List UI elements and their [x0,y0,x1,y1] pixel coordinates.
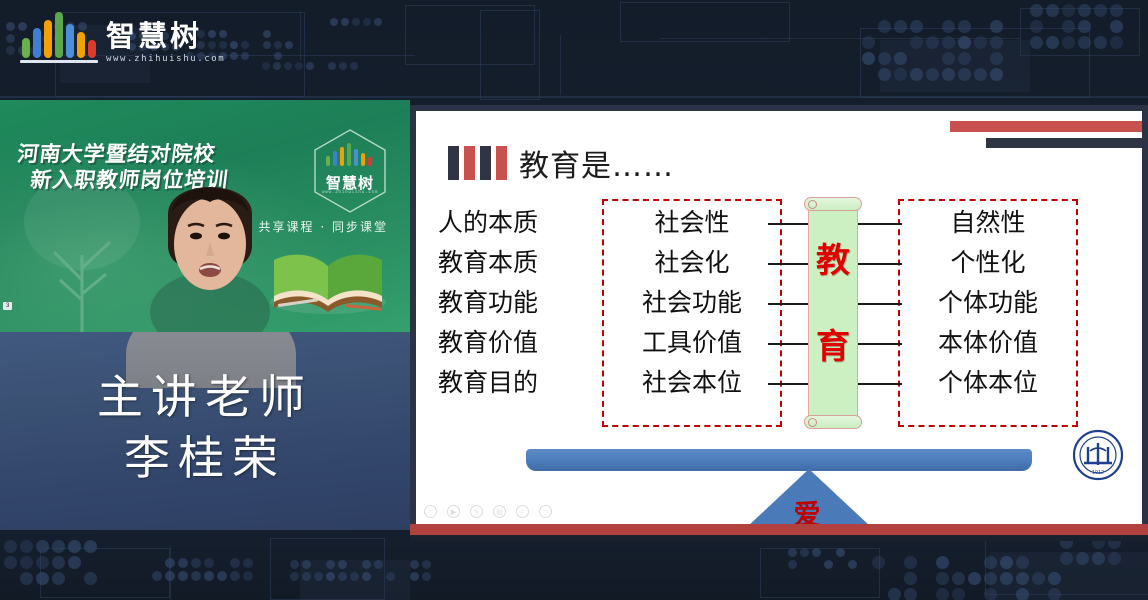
dot-bl-1-0 [4,556,17,569]
dot-bm-1-1 [302,572,311,581]
logo-bar-1 [22,38,30,58]
dot-bl2-0-6 [230,558,240,568]
teacher-credit: 主讲老师 李桂荣 [0,368,410,488]
brand-url: www.zhihuishu.com [312,190,388,195]
dot-bl2-0-2 [178,558,188,568]
brand-bars-icon [326,146,374,170]
dot-bm-0-4 [338,560,347,569]
connector-5-1 [768,383,812,385]
logo-bar-3 [44,20,52,58]
dot-bl-0-4 [68,540,81,553]
dot-br-2-5 [952,588,965,600]
dot-bm-0-11 [422,560,431,569]
dot-br2-1-0 [1060,552,1073,565]
slide-bottom-shadow [410,535,1148,541]
dot-bl2-1-5 [217,571,227,581]
topic-cell-2: 教育本质 [438,243,588,283]
dot-bm-0-6 [362,560,371,569]
dot-br2-1-2 [1092,552,1105,565]
dot-br-0-2 [904,556,917,569]
logo-url: www.zhihuishu.com [106,54,225,64]
individual-cell-1: 自然性 [902,203,1074,243]
dot-br-1-8 [1000,572,1013,585]
topic-cell-4: 教育价值 [438,323,588,363]
dot-bm-1-5 [350,572,359,581]
dot-br-0-0 [872,556,885,569]
logo-bar-foot-7 [86,60,98,63]
zhihuishu-logo[interactable]: 智慧树 www.zhihuishu.com [22,16,225,66]
dot-br-1-10 [1032,572,1045,585]
dot-bl-2-5 [84,572,97,585]
dot-bm-1-10 [410,572,419,581]
connector-2-2 [858,263,902,265]
teacher-role-label: 主讲老师 [0,368,410,427]
dot-br-1-7 [984,572,997,585]
individual-column: 自然性个性化个体功能本体价值个体本位 [902,203,1074,403]
dot-br-2-2 [904,588,917,600]
logo-bar-2 [33,28,41,58]
dot-bl-0-0 [4,540,17,553]
dot-bm-0-10 [410,560,419,569]
connector-4-1 [768,343,812,345]
slide-title: 教育是…… [519,141,674,185]
dot-bl-0-1 [20,540,33,553]
connector-5-2 [858,383,902,385]
dot-bl2-1-7 [243,571,253,581]
teacher-name-label: 李桂荣 [0,429,410,488]
title-bar-3 [480,146,491,180]
note-icon[interactable]: ▤ [493,505,506,518]
dot-bm-0-1 [302,560,311,569]
dot-bm-0-0 [290,560,299,569]
connector-3-2 [858,303,902,305]
dot-bl-0-3 [52,540,65,553]
scroll-knob-top [808,200,817,209]
brand-bar-6 [361,153,365,166]
title-accent-bars-icon [448,146,507,180]
dot-bm-1-8 [386,572,395,581]
topic-cell-5: 教育目的 [438,363,588,403]
dot-br2-1-1 [1076,552,1089,565]
dot-bl-2-1 [20,572,33,585]
social-cell-2: 社会化 [606,243,778,283]
fulcrum-label: 爱 [772,493,842,524]
dot-bm2-0-0 [788,548,797,557]
dot-bm2-1-0 [788,560,797,569]
slide-viewer[interactable]: 教育是…… 人的本质教育本质教育功能教育价值教育目的 社会性社会化社会功能工具价… [410,105,1148,530]
brand-bar-4 [347,143,351,166]
video-brand-hexagon: 智慧树 www.zhihuishu.com [312,128,388,214]
dot-bm-1-4 [338,572,347,581]
henan-university-logo: 1912 [1072,429,1124,481]
dot-bl-1-1 [20,556,33,569]
dot-bm2-1-3 [824,560,833,569]
social-column: 社会性社会化社会功能工具价值社会本位 [606,203,778,403]
balance-beam [526,449,1032,471]
scroll-roll-top [804,197,862,211]
slide-decor-red-bar [950,121,1142,132]
dot-bl-2-3 [52,572,65,585]
dot-bl-2-2 [36,572,49,585]
dot-bl2-0-4 [204,558,214,568]
dot-br-1-2 [904,572,917,585]
dot-bl2-1-6 [230,571,240,581]
dot-bm-1-3 [326,572,335,581]
dot-bl2-1-2 [178,571,188,581]
logo-title: 智慧树 [106,22,225,51]
dot-br-1-4 [936,572,949,585]
dot-bl2-0-3 [191,558,201,568]
dot-bm2-0-2 [812,548,821,557]
individual-cell-5: 个体本位 [902,363,1074,403]
connector-1-1 [768,223,812,225]
dot-br-2-1 [888,588,901,600]
dot-bl-1-2 [36,556,49,569]
individual-cell-4: 本体价值 [902,323,1074,363]
dot-br-0-7 [984,556,997,569]
dot-bm-1-6 [362,572,371,581]
social-cell-3: 社会功能 [606,283,778,323]
slide-canvas: 教育是…… 人的本质教育本质教育功能教育价值教育目的 社会性社会化社会功能工具价… [416,111,1142,524]
lock-icon[interactable]: ⌂ [516,505,529,518]
individual-cell-2: 个性化 [902,243,1074,283]
connector-4-2 [858,343,902,345]
dot-br-0-9 [1016,556,1029,569]
topic-cell-1: 人的本质 [438,203,588,243]
video-frame-bottom: 主讲老师 李桂荣 [0,332,410,530]
brand-bar-7 [368,157,372,166]
dot-br-1-6 [968,572,981,585]
dot-bl2-1-0 [152,571,162,581]
dot-bl2-0-7 [243,558,253,568]
scroll-roll-bottom [804,415,862,429]
screen-root: 智慧树 www.zhihuishu.com 河南大学暨结对院校 新入职教师岗位培… [0,0,1148,600]
title-bar-2 [464,146,475,180]
connector-1-2 [858,223,902,225]
dot-bm-0-7 [374,560,383,569]
individual-cell-3: 个体功能 [902,283,1074,323]
dot-bl-1-4 [68,556,81,569]
speaker-video-figure [122,162,298,332]
dot-br-2-7 [984,588,997,600]
video-frame-top: 河南大学暨结对院校 新入职教师岗位培训 智慧树 www.zhihuishu.co… [0,100,410,332]
dot-bl-0-5 [84,540,97,553]
play-icon[interactable]: ▶ [447,505,460,518]
brand-bar-2 [333,151,337,166]
bg-rect-5 [760,548,880,598]
scroll-char-bottom: 育 [808,319,858,368]
dot-bm-1-0 [290,572,299,581]
dot-br-2-11 [1048,588,1061,600]
title-bar-4 [496,146,507,180]
title-bar-1 [448,146,459,180]
dot-br-0-8 [1000,556,1013,569]
education-scroll: 教 育 [808,197,858,429]
dot-bl2-1-1 [165,571,175,581]
logo-bar-6 [77,32,85,58]
brand-bar-1 [326,156,330,166]
logo-bar-7 [88,40,96,58]
dot-br-2-4 [936,588,949,600]
dot-bl-0-2 [36,540,49,553]
dot-bm2-1-5 [848,560,857,569]
dot-br-1-11 [1048,572,1061,585]
app-header: 智慧树 www.zhihuishu.com [0,0,1148,98]
video-page-badge: 3 [3,302,12,310]
topic-cell-3: 教育功能 [438,283,588,323]
minus-icon[interactable]: − [539,505,552,518]
social-cell-5: 社会本位 [606,363,778,403]
dot-bl2-1-4 [204,571,214,581]
dot-br-0-4 [936,556,949,569]
dot-br-1-9 [1016,572,1029,585]
connector-2-1 [768,263,812,265]
dot-bm2-0-4 [836,548,845,557]
dot-br2-1-3 [1108,552,1121,565]
scroll-char-top: 教 [808,233,858,282]
scroll-knob-bottom [808,418,817,427]
topic-column: 人的本质教育本质教育功能教育价值教育目的 [438,203,588,403]
dot-bm-1-2 [314,572,323,581]
connector-3-1 [768,303,812,305]
pen-icon[interactable]: ✎ [470,505,483,518]
dot-br-2-9 [1016,588,1029,600]
svg-text:1912: 1912 [1092,470,1104,476]
logo-bar-5 [66,24,74,58]
dot-br-1-5 [952,572,965,585]
social-cell-4: 工具价值 [606,323,778,363]
dot-bm-0-3 [326,560,335,569]
slide-bottom-red-bar [410,524,1148,535]
slide-control-icons[interactable]: ‹▶✎▤⌂− [424,505,552,518]
dot-bl-1-3 [52,556,65,569]
video-panel[interactable]: 河南大学暨结对院校 新入职教师岗位培训 智慧树 www.zhihuishu.co… [0,100,410,530]
prev-icon[interactable]: ‹ [424,505,437,518]
logo-bar-4 [55,12,63,58]
social-cell-1: 社会性 [606,203,778,243]
dot-bm2-0-1 [800,548,809,557]
slide-decor-dark-bar [986,138,1142,148]
dot-bm-1-11 [422,572,431,581]
brand-bar-5 [354,149,358,166]
education-balance-diagram: 人的本质教育本质教育功能教育价值教育目的 社会性社会化社会功能工具价值社会本位 … [416,199,1142,449]
brand-bar-3 [340,147,344,166]
dot-bl2-1-3 [191,571,201,581]
logo-text: 智慧树 www.zhihuishu.com [106,22,225,66]
dot-bl2-0-1 [165,558,175,568]
logo-bars-icon [22,16,100,66]
slide-title-row: 教育是…… [448,141,674,185]
